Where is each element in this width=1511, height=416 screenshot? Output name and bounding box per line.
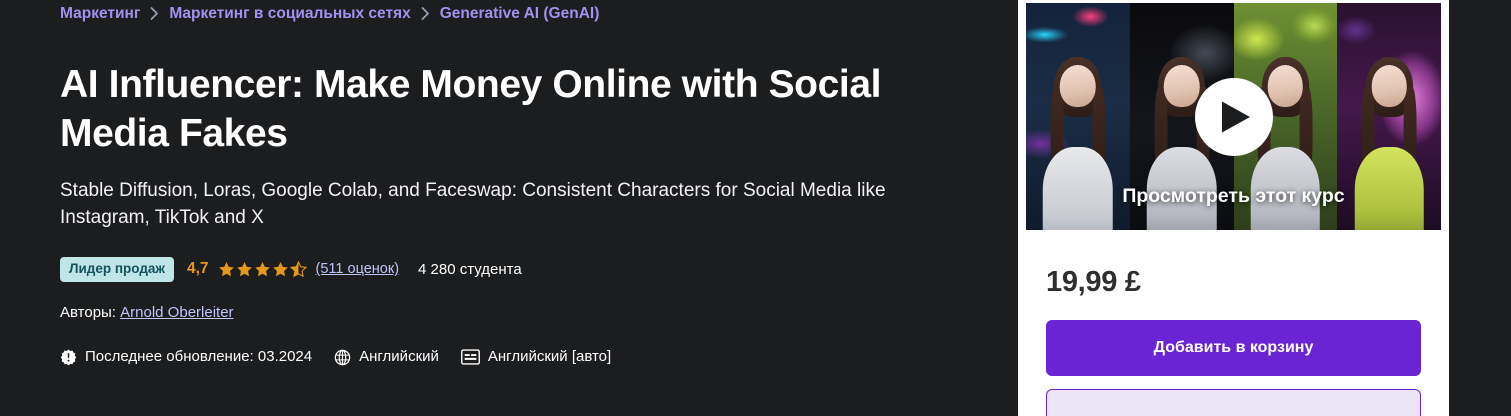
star-icon <box>272 261 289 278</box>
breadcrumb-item-marketing[interactable]: Маркетинг <box>60 3 140 25</box>
purchase-card: Просмотреть этот курс 19,99 £ Добавить в… <box>1018 0 1449 416</box>
figure-body <box>1147 147 1217 230</box>
play-button[interactable] <box>1195 78 1273 156</box>
meta-last-updated-label: Последнее обновление: 03.2024 <box>85 347 312 367</box>
students-count: 4 280 студента <box>418 261 522 278</box>
figure-head <box>1164 65 1200 107</box>
course-subtitle: Stable Diffusion, Loras, Google Colab, a… <box>60 177 960 231</box>
breadcrumb-item-generative-ai[interactable]: Generative AI (GenAI) <box>440 3 600 25</box>
meta-language-label: Английский <box>359 347 439 367</box>
meta-captions: Английский [авто] <box>461 347 611 367</box>
chevron-right-icon <box>150 7 159 20</box>
page-title: AI Influencer: Make Money Online with So… <box>60 60 960 158</box>
authors-label: Авторы: <box>60 304 116 321</box>
star-icon <box>254 261 271 278</box>
preview-figure <box>1037 57 1118 230</box>
breadcrumb: Маркетинг Маркетинг в социальных сетях G… <box>60 2 1000 26</box>
figure-head <box>1268 65 1304 107</box>
add-to-cart-button[interactable]: Добавить в корзину <box>1046 320 1421 376</box>
preview-thumbnail-1 <box>1026 3 1130 230</box>
buy-now-button[interactable] <box>1046 389 1421 416</box>
rating-row: Лидер продаж 4,7 <box>60 256 1000 282</box>
last-updated-icon <box>60 349 77 366</box>
star-rating <box>218 261 307 278</box>
chevron-right-icon <box>421 7 430 20</box>
authors-row: Авторы: Arnold Oberleiter <box>60 302 1000 324</box>
star-half-icon <box>290 261 307 278</box>
meta-language: Английский <box>334 347 439 367</box>
course-price: 19,99 £ <box>1046 264 1421 300</box>
star-icon <box>236 261 253 278</box>
preview-thumbnail-4 <box>1337 3 1441 230</box>
meta-last-updated: Последнее обновление: 03.2024 <box>60 347 312 367</box>
rating-value: 4,7 <box>187 260 209 278</box>
course-preview-video[interactable]: Просмотреть этот курс <box>1018 0 1449 238</box>
breadcrumb-item-social-media-marketing[interactable]: Маркетинг в социальных сетях <box>169 3 410 25</box>
figure-body <box>1354 147 1424 230</box>
figure-body <box>1251 147 1321 230</box>
closed-caption-icon <box>461 349 480 365</box>
figure-head <box>1371 65 1407 107</box>
course-meta-row: Последнее обновление: 03.2024 Английский <box>60 346 1000 368</box>
globe-icon <box>334 349 351 366</box>
course-info-column: Маркетинг Маркетинг в социальных сетях G… <box>60 0 1000 368</box>
meta-captions-label: Английский [авто] <box>488 347 611 367</box>
preview-figure <box>1349 57 1430 230</box>
author-link[interactable]: Arnold Oberleiter <box>120 304 233 321</box>
ratings-count-link[interactable]: (511 оценок) <box>316 261 400 277</box>
purchase-card-body: 19,99 £ Добавить в корзину <box>1018 238 1449 416</box>
star-icon <box>218 261 235 278</box>
bestseller-badge: Лидер продаж <box>60 257 174 282</box>
figure-head <box>1060 65 1096 107</box>
figure-body <box>1043 147 1113 230</box>
play-icon <box>1215 100 1252 134</box>
